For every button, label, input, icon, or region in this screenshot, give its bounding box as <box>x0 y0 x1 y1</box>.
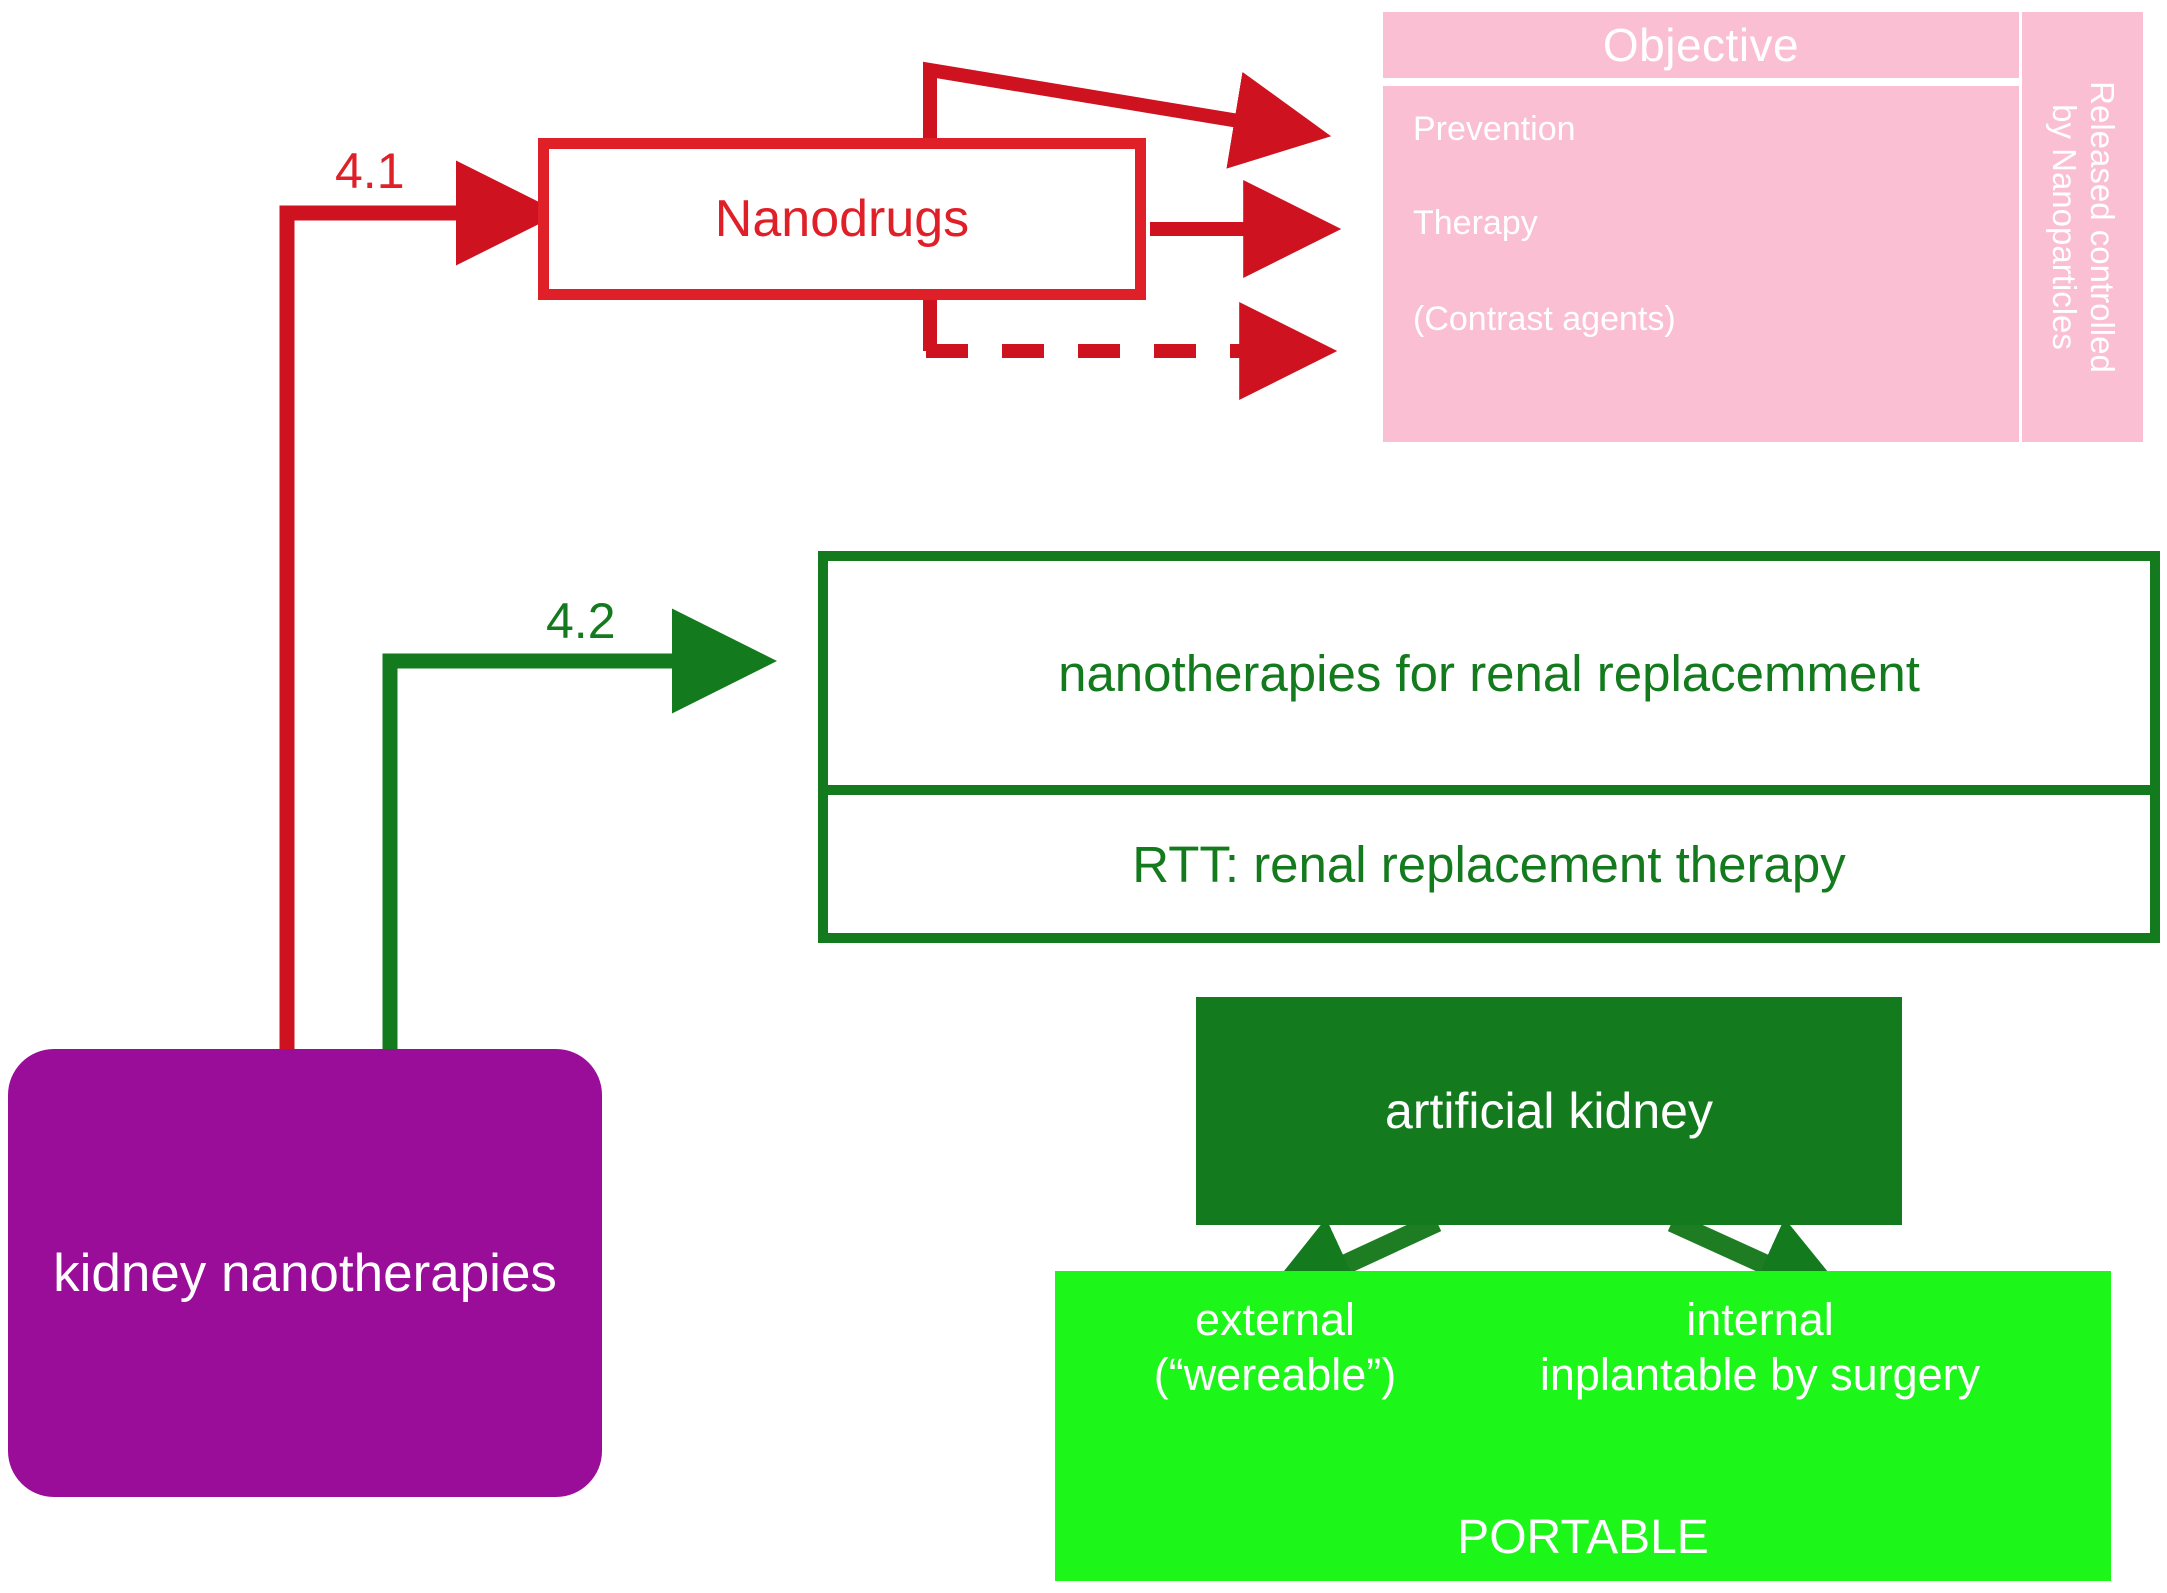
internal-kidney-type: internal inplantable by surgery <box>1440 1293 2080 1403</box>
branch-label-4-2: 4.2 <box>546 592 616 650</box>
connector-4-1 <box>287 213 474 1060</box>
released-controlled-line1: Released controlled <box>2083 81 2121 373</box>
nanotherapies-renal-label: nanotherapies for renal replacemment <box>1058 644 1920 703</box>
objective-item-prevention: Prevention <box>1413 110 1576 149</box>
kidney-nanotherapies-label: kidney nanotherapies <box>53 1243 557 1304</box>
renal-replacement-box: nanotherapies for renal replacemment RTT… <box>818 551 2160 943</box>
internal-label-line2: inplantable by surgery <box>1440 1348 2080 1403</box>
objective-body: Prevention Therapy (Contrast agents) <box>1383 86 2019 442</box>
connector-nanodrugs-prevention <box>930 70 1251 146</box>
released-controlled-label: Released controlled by Nanoparticles <box>2045 81 2121 373</box>
artificial-kidney-box: artificial kidney <box>1196 997 1902 1225</box>
objective-header: Objective <box>1383 12 2019 78</box>
nanodrugs-box: Nanodrugs <box>538 138 1146 300</box>
released-controlled-line2: by Nanoparticles <box>2045 81 2083 373</box>
renal-replacement-top-row: nanotherapies for renal replacemment <box>828 561 2150 795</box>
objective-item-contrast-agents: (Contrast agents) <box>1413 300 1676 339</box>
external-kidney-type: external (“wereable”) <box>1125 1293 1425 1403</box>
kidney-nanotherapies-box: kidney nanotherapies <box>8 1049 602 1497</box>
rtt-label: RTT: renal replacement therapy <box>1132 835 1845 894</box>
renal-replacement-bottom-row: RTT: renal replacement therapy <box>828 795 2150 933</box>
released-controlled-strip: Released controlled by Nanoparticles <box>2022 12 2143 442</box>
external-label-line1: external <box>1125 1293 1425 1348</box>
connector-4-2 <box>390 661 690 1060</box>
connector-kidney-internal <box>1672 1222 1782 1272</box>
internal-label-line1: internal <box>1440 1293 2080 1348</box>
connector-kidney-external <box>1329 1222 1437 1272</box>
artificial-kidney-label: artificial kidney <box>1385 1082 1713 1140</box>
kidney-types-box: external (“wereable”) internal inplantab… <box>1055 1271 2111 1581</box>
objective-item-therapy: Therapy <box>1413 204 1538 243</box>
portable-label: PORTABLE <box>1055 1510 2111 1565</box>
nanodrugs-label: Nanodrugs <box>715 189 969 249</box>
connector-nanodrugs-contrast <box>926 292 1256 351</box>
diagram-canvas: 4.1 4.2 Objective Prevention Therapy (Co… <box>0 0 2167 1593</box>
external-label-line2: (“wereable”) <box>1125 1348 1425 1403</box>
objective-header-label: Objective <box>1603 18 1799 72</box>
branch-label-4-1: 4.1 <box>335 142 405 200</box>
